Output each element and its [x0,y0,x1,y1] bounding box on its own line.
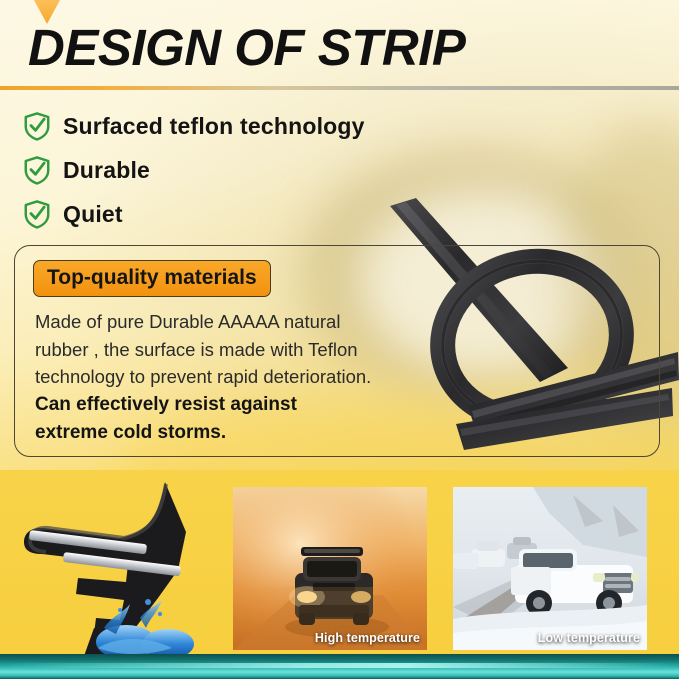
feature-label: Surfaced teflon technology [63,113,365,140]
wiper-blade-cross-section-art [8,478,228,656]
feature-item: Surfaced teflon technology [22,104,542,148]
info-box-line: Can effectively resist against [35,391,425,419]
title-divider [0,86,679,90]
info-box-line: Made of pure Durable AAAAA natural [35,308,425,336]
info-box-line: extreme cold storms. [35,419,425,447]
shield-check-icon [22,155,52,185]
info-box-badge: Top-quality materials [33,260,271,297]
feature-list: Surfaced teflon technology Durable Quiet [22,104,542,236]
info-box-line: rubber , the surface is made with Teflon [35,336,425,364]
info-box-line: technology to prevent rapid deterioratio… [35,363,425,391]
shield-check-icon [22,199,52,229]
product-infographic: DESIGN OF STRIP Surfaced teflon technolo… [0,0,679,679]
low-temperature-card: Low temperature [453,487,647,650]
card-caption: Low temperature [538,631,640,645]
card-caption: High temperature [315,631,420,645]
feature-item: Quiet [22,192,542,236]
shield-check-icon [22,111,52,141]
footer-sheen [0,663,679,668]
high-temperature-card: High temperature [233,487,427,650]
feature-label: Quiet [63,201,123,228]
info-box: Top-quality materials Made of pure Durab… [14,245,660,457]
feature-label: Durable [63,157,150,184]
feature-item: Durable [22,148,542,192]
info-box-text: Made of pure Durable AAAAA natural rubbe… [35,308,425,447]
page-title: DESIGN OF STRIP [28,20,465,76]
